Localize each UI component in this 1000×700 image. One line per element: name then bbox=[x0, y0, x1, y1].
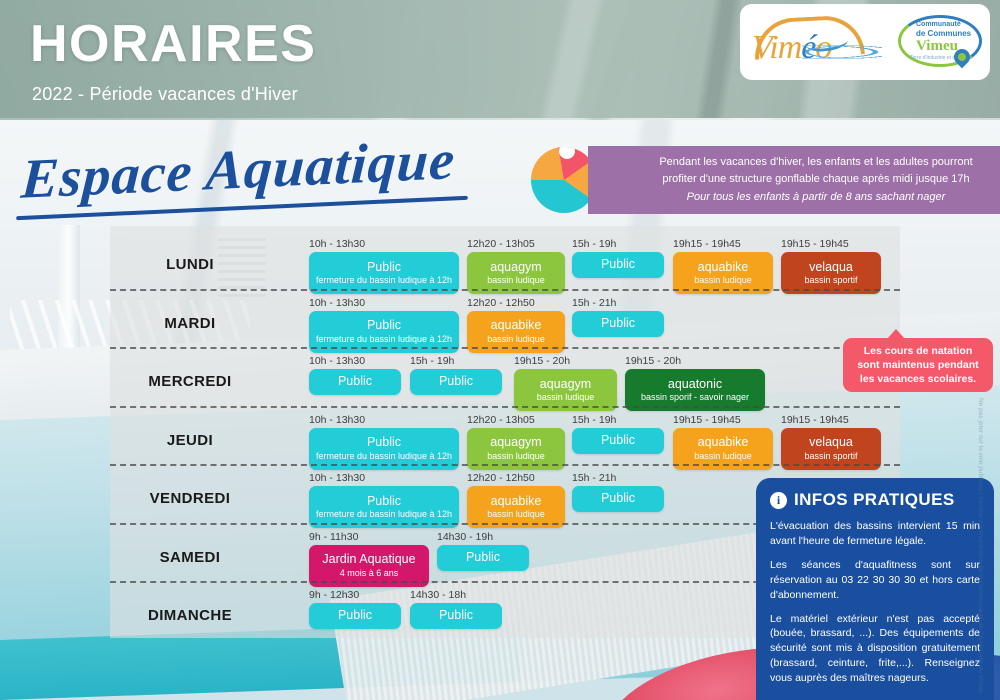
slot-activity-name: Public bbox=[577, 491, 659, 507]
slot-time: 14h30 - 18h bbox=[410, 589, 466, 601]
slot-time: 12h20 - 13h05 bbox=[467, 238, 535, 250]
slot-activity-name: Public bbox=[577, 316, 659, 332]
slot-activity-name: velaqua bbox=[786, 435, 876, 451]
row-separator bbox=[110, 406, 900, 408]
slot-activity-detail: fermeture du bassin ludique à 12h bbox=[314, 275, 454, 286]
slot-time: 19h15 - 19h45 bbox=[781, 414, 849, 426]
slot-activity-box[interactable]: Public bbox=[410, 603, 502, 629]
slot-activity-name: aquabike bbox=[472, 494, 560, 510]
infos-pratiques-panel: i INFOS PRATIQUES L'évacuation des bassi… bbox=[756, 478, 994, 700]
day-label-mardi: MARDI bbox=[110, 315, 270, 332]
slot-activity-detail: fermeture du bassin ludique à 12h bbox=[314, 509, 454, 520]
infos-paragraph: Le matériel extérieur n'est pas accepté … bbox=[770, 612, 980, 687]
slot-activity-name: aquagym bbox=[519, 377, 612, 393]
info-circle-icon: i bbox=[770, 492, 787, 509]
slot-activity-name: aquagym bbox=[472, 435, 560, 451]
slot-time: 15h - 21h bbox=[572, 472, 616, 484]
infos-paragraph: Les séances d'aquafitness sont sur réser… bbox=[770, 558, 980, 603]
slot-activity-name: Public bbox=[314, 494, 454, 510]
day-label-samedi: SAMEDI bbox=[110, 549, 270, 566]
slot-time: 19h15 - 20h bbox=[625, 355, 681, 367]
slot-time: 10h - 13h30 bbox=[309, 472, 365, 484]
slot-activity-name: Public bbox=[314, 435, 454, 451]
slot-time: 19h15 - 19h45 bbox=[673, 238, 741, 250]
day-label-vendredi: VENDREDI bbox=[110, 490, 270, 507]
side-credit-text: Ne pas jeter sur la voie publique | Serv… bbox=[977, 398, 984, 638]
slot-time: 19h15 - 19h45 bbox=[781, 238, 849, 250]
slot-time: 15h - 21h bbox=[572, 297, 616, 309]
infos-paragraph: L'évacuation des bassins intervient 15 m… bbox=[770, 519, 980, 549]
slot-activity-box[interactable]: Public bbox=[572, 311, 664, 337]
slot-activity-detail: fermeture du bassin ludique à 12h bbox=[314, 451, 454, 462]
slot-activity-name: aquabike bbox=[472, 318, 560, 334]
row-separator bbox=[110, 347, 900, 349]
slot-activity-name: Public bbox=[314, 608, 396, 624]
slot-activity-name: Public bbox=[415, 374, 497, 390]
day-label-lundi: LUNDI bbox=[110, 256, 270, 273]
slot-activity-name: aquabike bbox=[678, 435, 768, 451]
slot-activity-detail: bassin ludique bbox=[519, 392, 612, 403]
slot-activity-box[interactable]: Public bbox=[309, 369, 401, 395]
slot-time: 10h - 13h30 bbox=[309, 355, 365, 367]
slot-activity-name: Jardin Aquatique bbox=[314, 552, 424, 568]
slot-activity-detail: bassin sporif - savoir nager bbox=[630, 392, 760, 403]
slot-activity-detail: fermeture du bassin ludique à 12h bbox=[314, 334, 454, 345]
slot-activity-detail: bassin ludique bbox=[472, 334, 560, 345]
slot-activity-name: Public bbox=[415, 608, 497, 624]
day-label-jeudi: JEUDI bbox=[110, 432, 270, 449]
infos-title: INFOS PRATIQUES bbox=[794, 490, 955, 510]
day-label-dimanche: DIMANCHE bbox=[110, 607, 270, 624]
slot-time: 9h - 12h30 bbox=[309, 589, 359, 601]
slot-time: 9h - 11h30 bbox=[309, 531, 358, 543]
slot-time: 12h20 - 12h50 bbox=[467, 297, 535, 309]
slot-time: 15h - 19h bbox=[572, 238, 616, 250]
callout-line-3: les vacances scolaires. bbox=[857, 372, 978, 386]
day-label-mercredi: MERCREDI bbox=[110, 373, 270, 390]
slot-activity-name: aquatonic bbox=[630, 377, 760, 393]
slot-time: 19h15 - 19h45 bbox=[673, 414, 741, 426]
slot-activity-name: velaqua bbox=[786, 260, 876, 276]
slot-time: 14h30 - 19h bbox=[437, 531, 493, 543]
slot-activity-box[interactable]: Public bbox=[309, 603, 401, 629]
slot-activity-name: Public bbox=[442, 550, 524, 566]
callout-line-1: Les cours de natation bbox=[857, 344, 978, 358]
slot-activity-box[interactable]: Public bbox=[572, 428, 664, 454]
slot-activity-detail: 4 mois à 6 ans bbox=[314, 568, 424, 579]
infos-header: i INFOS PRATIQUES bbox=[770, 490, 980, 510]
slot-time: 12h20 - 13h05 bbox=[467, 414, 535, 426]
slot-time: 15h - 19h bbox=[410, 355, 454, 367]
slot-time: 10h - 13h30 bbox=[309, 238, 365, 250]
slot-time: 15h - 19h bbox=[572, 414, 616, 426]
slot-activity-name: aquabike bbox=[678, 260, 768, 276]
slot-activity-detail: bassin ludique bbox=[472, 451, 560, 462]
slot-activity-name: Public bbox=[577, 257, 659, 273]
slot-activity-name: aquagym bbox=[472, 260, 560, 276]
row-separator bbox=[110, 289, 900, 291]
slot-activity-box[interactable]: Public bbox=[572, 252, 664, 278]
poster-root: HORAIRES 2022 - Période vacances d'Hiver… bbox=[0, 0, 1000, 700]
slot-time: 10h - 13h30 bbox=[309, 297, 365, 309]
slot-activity-detail: bassin ludique bbox=[472, 275, 560, 286]
slot-activity-name: Public bbox=[314, 374, 396, 390]
slot-activity-detail: bassin ludique bbox=[678, 451, 768, 462]
slot-activity-name: Public bbox=[577, 433, 659, 449]
slot-activity-name: Public bbox=[314, 260, 454, 276]
slot-activity-detail: bassin sportif bbox=[786, 451, 876, 462]
slot-time: 19h15 - 20h bbox=[514, 355, 570, 367]
row-separator bbox=[110, 464, 900, 466]
slot-activity-detail: bassin sportif bbox=[786, 275, 876, 286]
slot-activity-name: Public bbox=[314, 318, 454, 334]
slot-time: 12h20 - 12h50 bbox=[467, 472, 535, 484]
slot-time: 10h - 13h30 bbox=[309, 414, 365, 426]
slot-activity-detail: bassin ludique bbox=[678, 275, 768, 286]
slot-activity-box[interactable]: Public bbox=[410, 369, 502, 395]
slot-activity-box[interactable]: Public bbox=[572, 486, 664, 512]
slot-activity-detail: bassin ludique bbox=[472, 509, 560, 520]
slot-activity-box[interactable]: Public bbox=[437, 545, 529, 571]
swim-lessons-callout: Les cours de natation sont maintenus pen… bbox=[843, 338, 993, 392]
callout-line-2: sont maintenus pendant bbox=[857, 358, 978, 372]
